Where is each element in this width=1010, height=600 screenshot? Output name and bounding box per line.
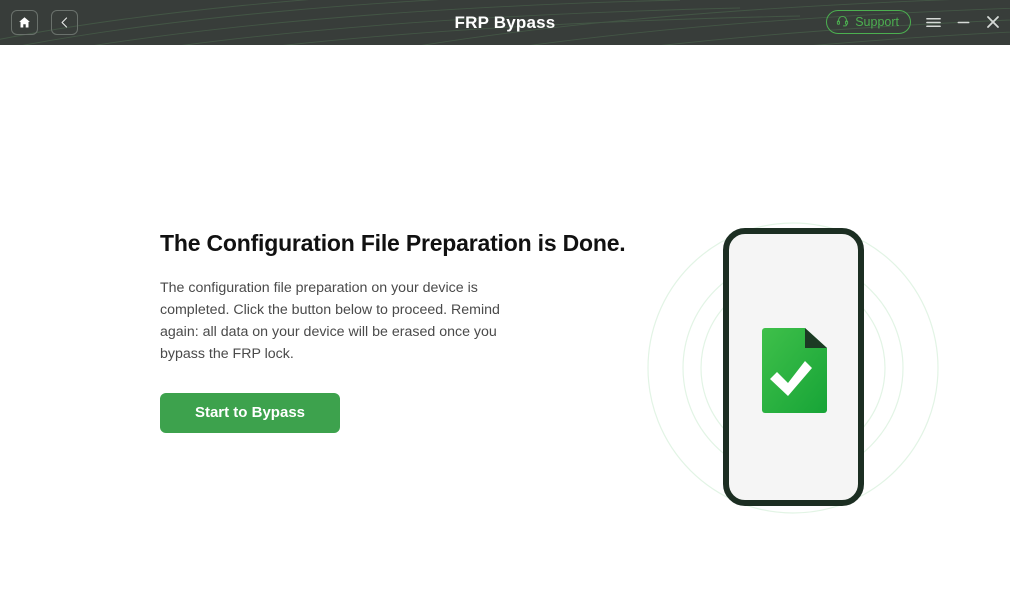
chevron-left-icon <box>58 16 71 29</box>
minimize-icon[interactable] <box>956 15 971 30</box>
headset-icon <box>836 14 849 30</box>
headline-text: The Configuration File Preparation is Do… <box>160 230 640 258</box>
body-text: The configuration file preparation on yo… <box>160 277 505 365</box>
content-area: The Configuration File Preparation is Do… <box>0 45 1010 600</box>
home-icon <box>18 16 31 29</box>
title-bar: FRP Bypass Support <box>0 0 1010 45</box>
illustration <box>640 140 960 560</box>
hamburger-menu-icon[interactable] <box>925 15 942 30</box>
support-button[interactable]: Support <box>826 10 911 34</box>
support-label: Support <box>855 15 899 29</box>
window-controls: Support <box>826 10 1001 34</box>
navigation-buttons <box>11 10 78 35</box>
start-to-bypass-button[interactable]: Start to Bypass <box>160 393 340 433</box>
document-check-icon <box>761 325 827 413</box>
close-icon[interactable] <box>985 14 1001 30</box>
smartphone-outline <box>723 228 864 506</box>
home-button[interactable] <box>11 10 38 35</box>
back-button[interactable] <box>51 10 78 35</box>
message-block: The Configuration File Preparation is Do… <box>160 230 640 433</box>
